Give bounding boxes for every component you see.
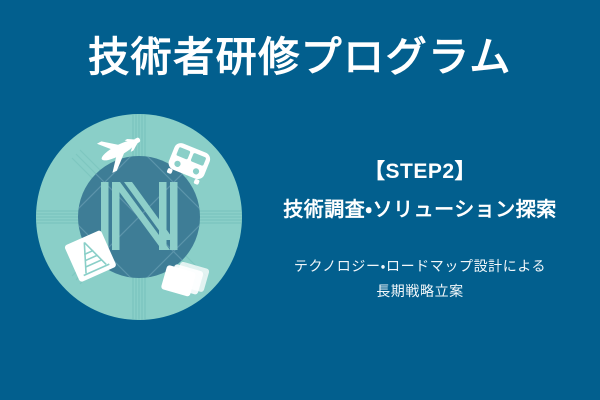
logo-graphic xyxy=(36,114,242,320)
step-heading: 技術調査・ソリューション探索 xyxy=(248,197,592,224)
description-line-2: 長期戦略立案 xyxy=(248,279,592,304)
content-column: 【STEP2】 技術調査・ソリューション探索 テクノロジー・ロードマップ設計によ… xyxy=(248,158,592,303)
description-line-1: テクノロジー・ロードマップ設計による xyxy=(248,254,592,279)
description-block: テクノロジー・ロードマップ設計による 長期戦略立案 xyxy=(248,254,592,303)
step-label: 【STEP2】 xyxy=(248,158,592,185)
slide-canvas: 技術者研修プログラム xyxy=(0,0,600,400)
page-title: 技術者研修プログラム xyxy=(0,34,600,81)
